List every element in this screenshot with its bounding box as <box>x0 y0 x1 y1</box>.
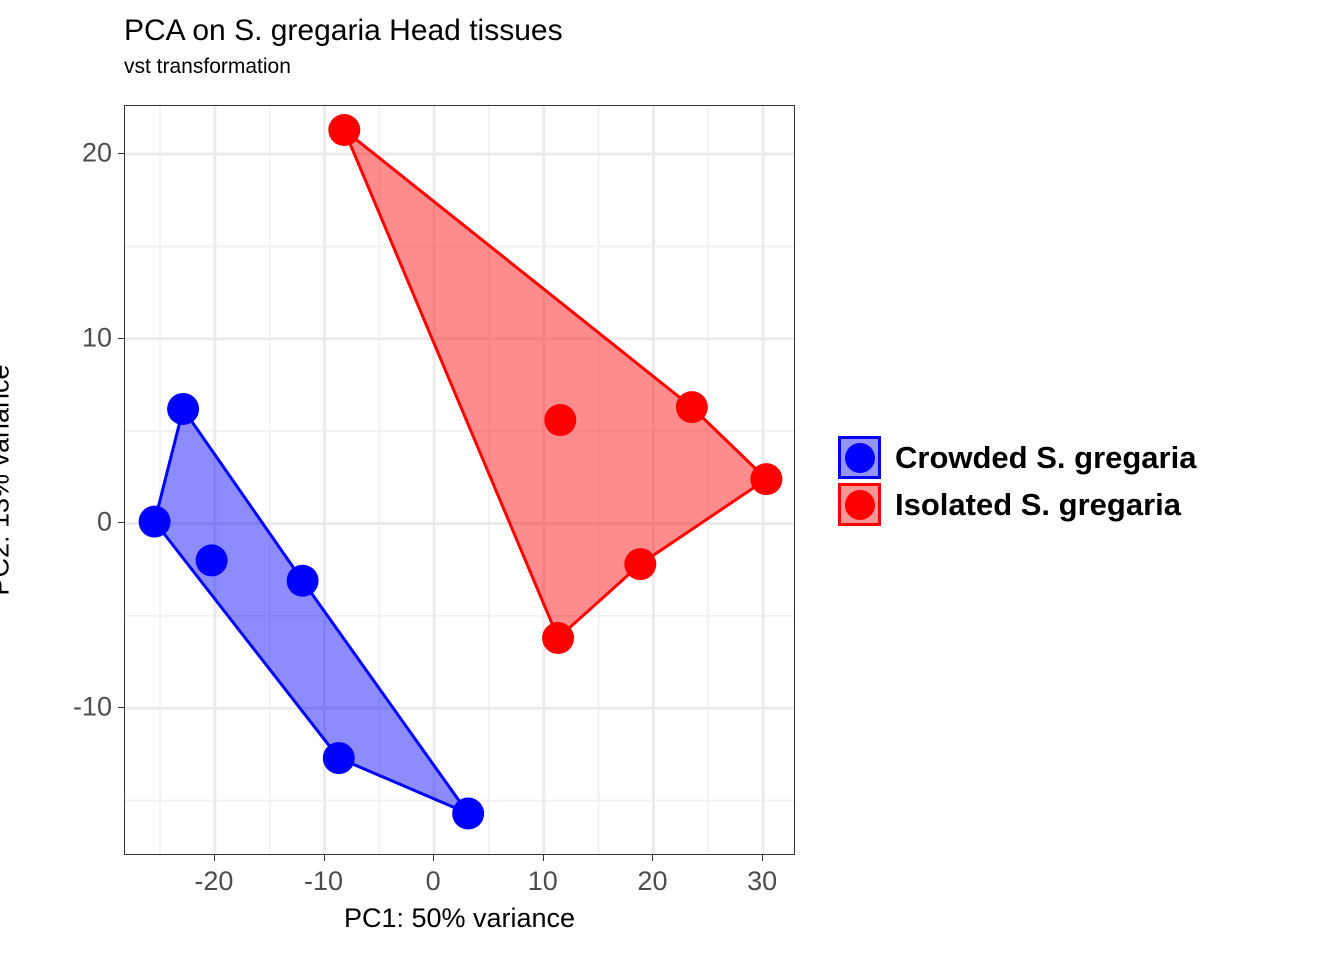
legend-key-dot-icon <box>845 443 875 473</box>
x-tick-mark <box>324 855 325 861</box>
data-point[interactable] <box>676 391 708 423</box>
chart-root: PCA on S. gregaria Head tissues vst tran… <box>0 0 1344 960</box>
y-tick-mark <box>118 707 124 708</box>
data-point[interactable] <box>624 548 656 580</box>
data-point[interactable] <box>167 393 199 425</box>
x-tick-label: -10 <box>304 866 343 897</box>
y-tick-label: 10 <box>82 322 112 353</box>
legend-item-label: Isolated S. gregaria <box>895 488 1181 521</box>
y-tick-mark <box>118 338 124 339</box>
cluster-hull-0 <box>155 409 469 814</box>
y-tick-mark <box>118 522 124 523</box>
cluster-hull-1 <box>344 130 766 638</box>
legend-item[interactable]: Isolated S. gregaria <box>838 481 1196 528</box>
x-tick-label: -20 <box>194 866 233 897</box>
x-tick-mark <box>214 855 215 861</box>
x-tick-mark <box>543 855 544 861</box>
y-tick-label: 0 <box>97 507 112 538</box>
data-point[interactable] <box>750 463 782 495</box>
legend-key-swatch <box>838 436 881 479</box>
legend-item-label: Crowded S. gregaria <box>895 441 1196 474</box>
y-tick-label: -10 <box>73 692 112 723</box>
x-tick-mark <box>433 855 434 861</box>
x-tick-label: 0 <box>426 866 441 897</box>
legend: Crowded S. gregariaIsolated S. gregaria <box>838 434 1196 528</box>
chart-subtitle: vst transformation <box>124 54 291 80</box>
data-point[interactable] <box>287 565 319 597</box>
y-tick-mark <box>118 153 124 154</box>
data-point[interactable] <box>196 544 228 576</box>
data-point[interactable] <box>544 404 576 436</box>
x-tick-mark <box>762 855 763 861</box>
y-tick-label: 20 <box>82 138 112 169</box>
data-point[interactable] <box>139 506 171 538</box>
legend-key-swatch <box>838 483 881 526</box>
data-point[interactable] <box>328 114 360 146</box>
plot-area <box>125 106 794 854</box>
y-axis-title: PC2: 13% variance <box>0 364 16 595</box>
chart-title: PCA on S. gregaria Head tissues <box>124 14 563 48</box>
data-point[interactable] <box>542 622 574 654</box>
scatter-plot-svg <box>125 106 794 854</box>
x-axis-title: PC1: 50% variance <box>124 903 795 934</box>
legend-key-dot-icon <box>845 490 875 520</box>
data-point[interactable] <box>323 742 355 774</box>
x-tick-label: 10 <box>528 866 558 897</box>
x-tick-label: 20 <box>637 866 667 897</box>
x-tick-label: 30 <box>747 866 777 897</box>
data-point[interactable] <box>452 798 484 830</box>
legend-item[interactable]: Crowded S. gregaria <box>838 434 1196 481</box>
plot-panel <box>124 105 795 855</box>
x-tick-mark <box>652 855 653 861</box>
